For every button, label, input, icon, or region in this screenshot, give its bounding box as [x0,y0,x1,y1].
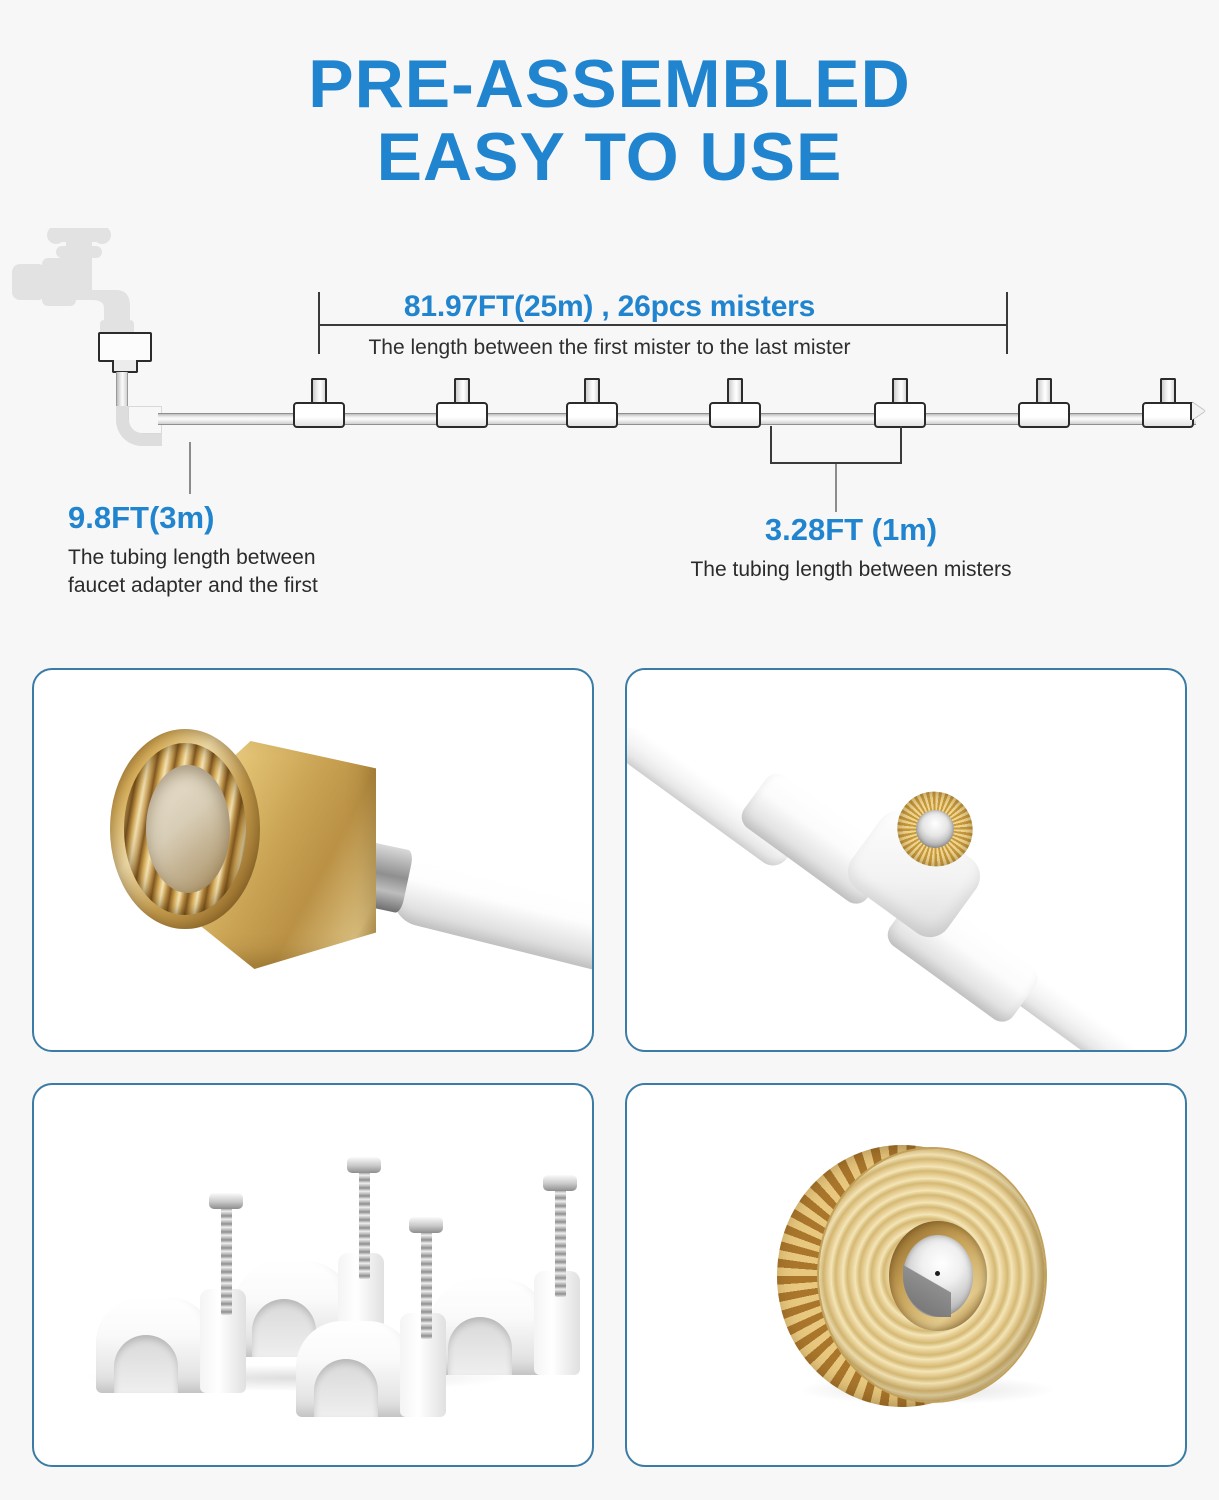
mister-stem [584,378,600,404]
mister-body [1018,402,1070,428]
mister-body [293,402,345,428]
mister-stem [454,378,470,404]
spacing-bracket-tick-right [900,426,902,464]
total-length-description: The length between the first mister to t… [0,336,1219,360]
mister-stem [1036,378,1052,404]
mister-body [874,402,926,428]
mister-body [1142,402,1194,428]
clip-nail [359,1167,370,1279]
mister-stem [311,378,327,404]
cable-clip [430,1243,580,1375]
callout-left-value: 9.8FT(3m) [68,500,318,536]
brass-adapter-image [94,705,414,1005]
dimension-line-total-length [318,324,1008,326]
clip-nail [555,1185,566,1297]
cable-clip [296,1285,446,1417]
clip-nail [221,1203,232,1315]
clip-nail-head [209,1193,243,1209]
clip-opening [448,1317,512,1375]
callout-right-value: 3.28FT (1m) [655,512,1047,548]
mister-nozzle-tee [1018,378,1070,430]
brass-nozzle-image [777,1133,1067,1423]
clip-nail-head [409,1217,443,1233]
dimension-total-length-label: 81.97FT(25m) , 26pcs misters [0,290,1219,324]
mister-stem [892,378,908,404]
mister-body [436,402,488,428]
misting-system-diagram: 81.97FT(25m) , 26pcs misters The length … [0,210,1219,620]
headline-line-1: PRE-ASSEMBLED [0,48,1219,121]
clip-nail-head [347,1157,381,1173]
panel-inline-mister-connector [625,668,1187,1052]
mister-stem [727,378,743,404]
mister-body [566,402,618,428]
panel-brass-misting-nozzle [625,1083,1187,1467]
clip-opening [314,1359,378,1417]
callout-faucet-to-first-mister: 9.8FT(3m) The tubing length between fauc… [68,500,318,601]
spacing-leader-line [835,464,837,512]
product-photo-grid [32,668,1187,1468]
mister-nozzle-tee [1142,378,1194,430]
clip-opening [114,1335,178,1393]
tubing-end-cap-icon [1192,402,1205,420]
mister-nozzle-tee [709,378,761,430]
inline-connector-image [627,670,1185,1050]
mister-nozzle-tee [874,378,926,430]
total-length-value: 81.97FT(25m) , 26pcs misters [390,290,829,324]
mister-nozzle-tee [436,378,488,430]
white-tubing [387,858,594,991]
mister-stem [1160,378,1176,404]
mister-nozzle-tee [293,378,345,430]
clip-nail-head [543,1175,577,1191]
first-mister-leader-line [189,442,191,494]
cable-clip [96,1261,246,1393]
spacing-bracket-tick-left [770,426,772,464]
faucet-icon [12,228,172,348]
nozzle-orifice [903,1235,973,1317]
panel-brass-faucet-adapter [32,668,594,1052]
callout-between-misters: 3.28FT (1m) The tubing length between mi… [655,512,1047,584]
page-title: PRE-ASSEMBLED EASY TO USE [0,48,1219,195]
tubing-elbow [116,406,162,446]
clip-nail [421,1227,432,1339]
mister-nozzle-tee [566,378,618,430]
mister-body [709,402,761,428]
panel-cable-clips [32,1083,594,1467]
callout-right-description: The tubing length between misters [655,556,1047,584]
callout-left-description: The tubing length between faucet adapter… [68,544,318,601]
headline-line-2: EASY TO USE [0,121,1219,194]
brass-thread-bore [146,765,230,893]
